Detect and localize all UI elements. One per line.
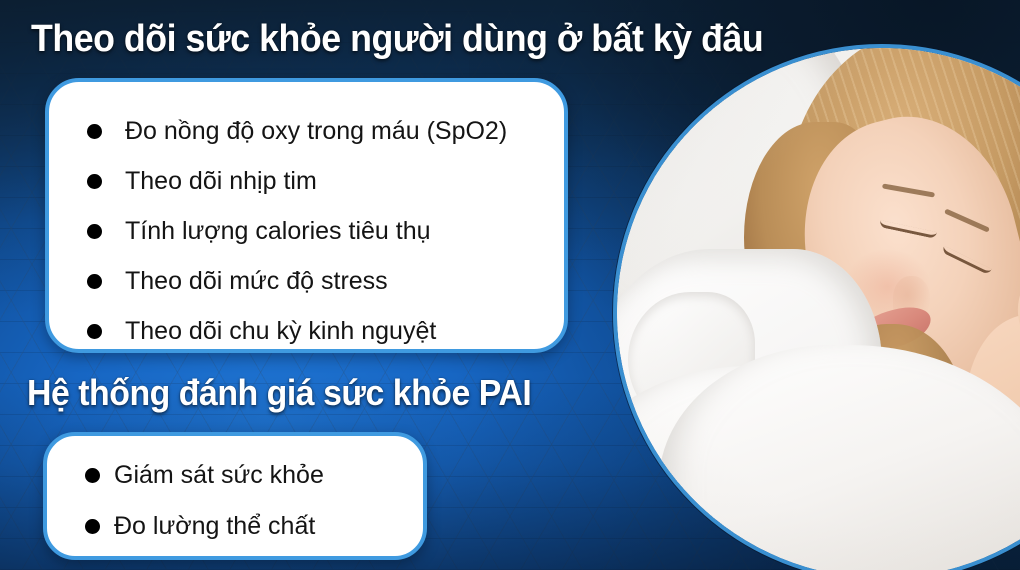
list-item-label: Theo dõi nhịp tim <box>125 167 317 196</box>
list-item: Theo dõi chu kỳ kinh nguyệt <box>87 306 564 356</box>
list-item-label: Tính lượng calories tiêu thụ <box>125 217 431 246</box>
list-item-label: Theo dõi mức độ stress <box>125 267 388 296</box>
list-item-label: Giám sát sức khỏe <box>114 461 324 490</box>
bullet-dot-icon <box>85 468 100 483</box>
health-feature-banner: Theo dõi sức khỏe người dùng ở bất kỳ đâ… <box>0 0 1020 570</box>
list-item: Tính lượng calories tiêu thụ <box>87 206 564 256</box>
list-item: Giám sát sức khỏe <box>85 450 423 501</box>
pai-list-card: Giám sát sức khỏe Đo lường thể chất <box>43 432 427 560</box>
list-item-label: Đo nồng độ oxy trong máu (SpO2) <box>125 117 507 146</box>
bullet-dot-icon <box>87 324 102 339</box>
list-item-label: Đo lường thể chất <box>114 512 315 541</box>
list-item: Theo dõi nhịp tim <box>87 156 564 206</box>
list-item: Đo lường thể chất <box>85 501 423 552</box>
bullet-dot-icon <box>87 274 102 289</box>
bullet-dot-icon <box>85 519 100 534</box>
sleeping-woman-photo <box>613 44 1020 570</box>
feature-list: Đo nồng độ oxy trong máu (SpO2) Theo dõi… <box>49 82 564 356</box>
feature-list-card: Đo nồng độ oxy trong máu (SpO2) Theo dõi… <box>45 78 568 353</box>
pai-list: Giám sát sức khỏe Đo lường thể chất <box>47 436 423 552</box>
bullet-dot-icon <box>87 124 102 139</box>
list-item-label: Theo dõi chu kỳ kinh nguyệt <box>125 317 436 346</box>
list-item: Theo dõi mức độ stress <box>87 256 564 306</box>
bullet-dot-icon <box>87 174 102 189</box>
list-item: Đo nồng độ oxy trong máu (SpO2) <box>87 106 564 156</box>
photo-inner <box>617 48 1020 570</box>
bullet-dot-icon <box>87 224 102 239</box>
page-title: Theo dõi sức khỏe người dùng ở bất kỳ đâ… <box>31 17 763 61</box>
pai-section-title: Hệ thống đánh giá sức khỏe PAI <box>27 372 531 414</box>
